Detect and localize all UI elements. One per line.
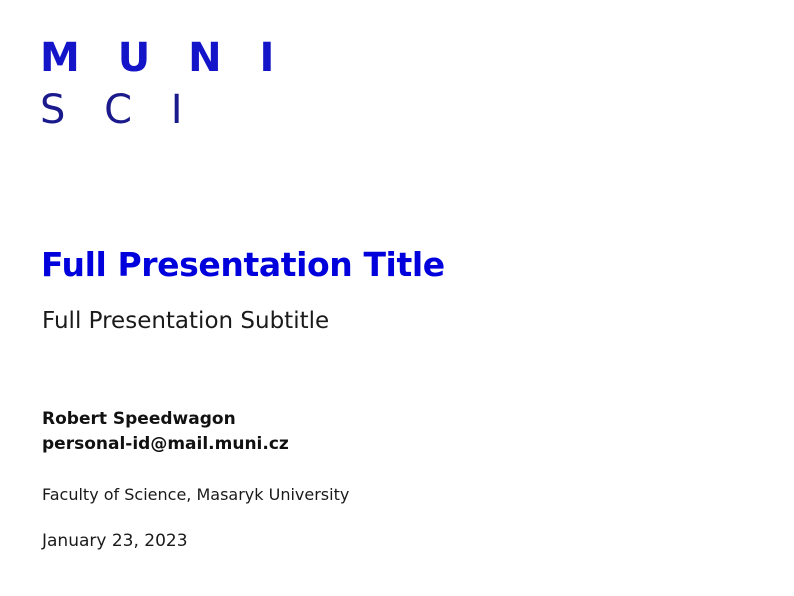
affiliation-text: Faculty of Science, Masaryk University <box>42 485 349 504</box>
page-subtitle: Full Presentation Subtitle <box>42 308 329 336</box>
presentation-date: January 23, 2023 <box>42 531 188 551</box>
presentation-title-slide: M U N I S C I Full Presentation Title Fu… <box>0 0 794 596</box>
author-email: personal-id@mail.muni.cz <box>42 432 289 457</box>
logo-wordmark-sci: S C I <box>40 90 286 130</box>
page-title: Full Presentation Title <box>41 246 445 284</box>
author-name: Robert Speedwagon <box>42 407 289 432</box>
logo-wordmark-muni: M U N I <box>40 38 286 78</box>
author-block: Robert Speedwagon personal-id@mail.muni.… <box>42 407 289 456</box>
muni-sci-logo: M U N I S C I <box>40 38 286 130</box>
